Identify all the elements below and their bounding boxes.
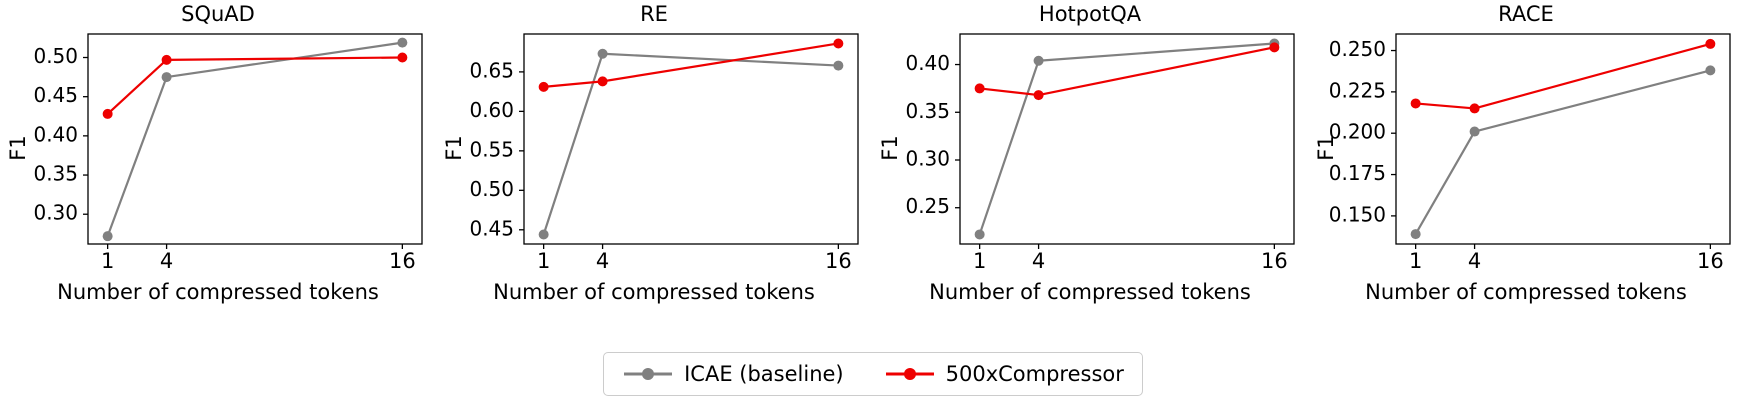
panel-race: RACE F1 0.1500.1750.2000.2250.2501416 Nu… — [1308, 0, 1744, 330]
series-line — [980, 44, 1275, 235]
x-tick-label: 4 — [1468, 249, 1481, 273]
series-marker — [103, 231, 113, 241]
series-marker — [539, 230, 549, 240]
y-tick-label: 0.30 — [905, 147, 950, 171]
series-marker — [1705, 65, 1715, 75]
multi-panel-line-chart-figure: SQuAD F1 0.300.350.400.450.501416 Number… — [0, 0, 1746, 418]
legend-line-marker-icon — [884, 365, 936, 383]
x-tick-label: 4 — [596, 249, 609, 273]
series-marker — [1034, 90, 1044, 100]
panel-hotpotqa: HotpotQA F1 0.250.300.350.401416 Number … — [872, 0, 1308, 330]
axes-svg: 0.1500.1750.2000.2250.2501416 — [1308, 26, 1744, 274]
y-tick-label: 0.200 — [1329, 120, 1386, 144]
y-tick-label: 0.35 — [33, 162, 78, 186]
legend-entry-baseline[interactable]: ICAE (baseline) — [622, 362, 844, 386]
series-marker — [397, 53, 407, 63]
plot-area-squad: F1 0.300.350.400.450.501416 — [0, 26, 436, 274]
legend-label-baseline: ICAE (baseline) — [684, 362, 844, 386]
y-tick-label: 0.150 — [1329, 202, 1386, 226]
x-axis-label: Number of compressed tokens — [0, 280, 436, 304]
series-marker — [975, 83, 985, 93]
plot-area-hotpotqa: F1 0.250.300.350.401416 — [872, 26, 1308, 274]
y-tick-label: 0.175 — [1329, 161, 1386, 185]
axes-frame — [960, 34, 1294, 244]
legend-label-compressor: 500xCompressor — [946, 362, 1124, 386]
x-tick-label: 16 — [825, 249, 852, 273]
plot-area-race: F1 0.1500.1750.2000.2250.2501416 — [1308, 26, 1744, 274]
series-marker — [1034, 56, 1044, 66]
x-tick-label: 1 — [1409, 249, 1422, 273]
x-tick-label: 4 — [160, 249, 173, 273]
y-tick-label: 0.45 — [33, 83, 78, 107]
x-axis-label: Number of compressed tokens — [872, 280, 1308, 304]
series-line — [544, 43, 839, 86]
x-axis-label: Number of compressed tokens — [1308, 280, 1744, 304]
legend-entry-compressor[interactable]: 500xCompressor — [884, 362, 1124, 386]
y-tick-label: 0.60 — [469, 98, 514, 122]
series-marker — [1470, 127, 1480, 137]
y-tick-label: 0.40 — [905, 51, 950, 75]
panel-title: HotpotQA — [872, 2, 1308, 26]
series-marker — [397, 38, 407, 48]
y-tick-label: 0.25 — [905, 194, 950, 218]
series-marker — [1269, 42, 1279, 52]
y-tick-label: 0.250 — [1329, 37, 1386, 61]
series-line — [1416, 70, 1711, 234]
series-marker — [162, 55, 172, 65]
panel-squad: SQuAD F1 0.300.350.400.450.501416 Number… — [0, 0, 436, 330]
series-marker — [103, 109, 113, 119]
y-tick-label: 0.45 — [469, 216, 514, 240]
legend-row: ICAE (baseline) 500xCompressor — [0, 330, 1746, 418]
y-tick-label: 0.225 — [1329, 78, 1386, 102]
y-tick-label: 0.50 — [33, 44, 78, 68]
panel-title: RACE — [1308, 2, 1744, 26]
x-tick-label: 16 — [1697, 249, 1724, 273]
series-marker — [833, 38, 843, 48]
series-line — [1416, 44, 1711, 108]
series-marker — [1470, 103, 1480, 113]
x-tick-label: 16 — [389, 249, 416, 273]
series-line — [108, 58, 403, 114]
series-marker — [598, 76, 608, 86]
series-marker — [162, 72, 172, 82]
panels-row: SQuAD F1 0.300.350.400.450.501416 Number… — [0, 0, 1746, 330]
series-marker — [539, 82, 549, 92]
panel-title: SQuAD — [0, 2, 436, 26]
series-marker — [1411, 229, 1421, 239]
axes-svg: 0.250.300.350.401416 — [872, 26, 1308, 274]
legend: ICAE (baseline) 500xCompressor — [603, 352, 1143, 396]
y-tick-label: 0.30 — [33, 201, 78, 225]
axes-svg: 0.450.500.550.600.651416 — [436, 26, 872, 274]
y-tick-label: 0.40 — [33, 122, 78, 146]
axes-frame — [88, 34, 422, 244]
plot-area-re: F1 0.450.500.550.600.651416 — [436, 26, 872, 274]
axes-svg: 0.300.350.400.450.501416 — [0, 26, 436, 274]
y-tick-label: 0.65 — [469, 58, 514, 82]
x-axis-label: Number of compressed tokens — [436, 280, 872, 304]
panel-title: RE — [436, 2, 872, 26]
series-marker — [1705, 39, 1715, 49]
panel-re: RE F1 0.450.500.550.600.651416 Number of… — [436, 0, 872, 330]
series-marker — [598, 49, 608, 59]
axes-frame — [1396, 34, 1730, 244]
series-marker — [975, 229, 985, 239]
y-tick-label: 0.35 — [905, 99, 950, 123]
x-tick-label: 1 — [537, 249, 550, 273]
x-tick-label: 16 — [1261, 249, 1288, 273]
x-tick-label: 4 — [1032, 249, 1045, 273]
x-tick-label: 1 — [101, 249, 114, 273]
legend-line-marker-icon — [622, 365, 674, 383]
series-line — [108, 43, 403, 237]
series-line — [544, 54, 839, 235]
x-tick-label: 1 — [973, 249, 986, 273]
series-marker — [833, 61, 843, 71]
y-tick-label: 0.55 — [469, 137, 514, 161]
series-marker — [1411, 98, 1421, 108]
y-tick-label: 0.50 — [469, 177, 514, 201]
